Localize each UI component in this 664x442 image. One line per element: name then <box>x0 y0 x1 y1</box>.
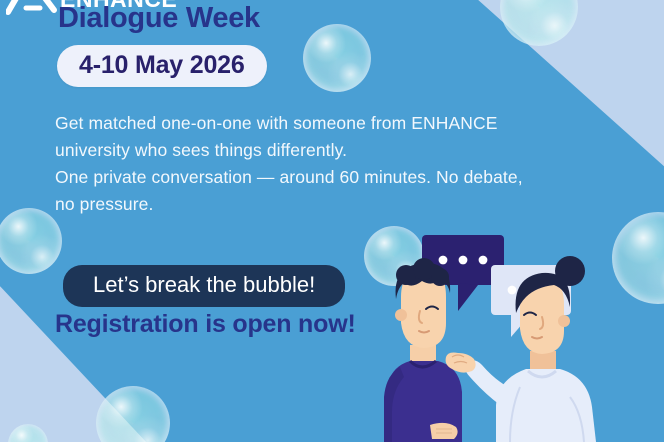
body-copy: Get matched one-on-one with someone from… <box>55 110 625 218</box>
tagline-banner: Let’s break the bubble! <box>63 265 345 307</box>
poster-canvas: ENHANCE Dialogue Week 4-10 May 2026 Get … <box>0 0 664 442</box>
body-line-3: One private conversation — around 60 min… <box>55 164 625 191</box>
bubble-mid-left <box>0 208 62 274</box>
wedge-bottom-left <box>0 284 148 442</box>
bubble-top-center <box>303 24 371 92</box>
date-badge: 4-10 May 2026 <box>57 45 267 87</box>
body-line-1: Get matched one-on-one with someone from… <box>55 110 625 137</box>
two-people-conversation-illustration <box>374 227 664 442</box>
person-left-figure <box>384 258 462 442</box>
registration-callout: Registration is open now! <box>55 310 356 339</box>
page-title: Dialogue Week <box>58 2 260 35</box>
body-line-2: university who sees things differently. <box>55 137 625 164</box>
enhance-logo-chevron-icon <box>6 0 58 16</box>
body-line-4: no pressure. <box>55 191 625 218</box>
